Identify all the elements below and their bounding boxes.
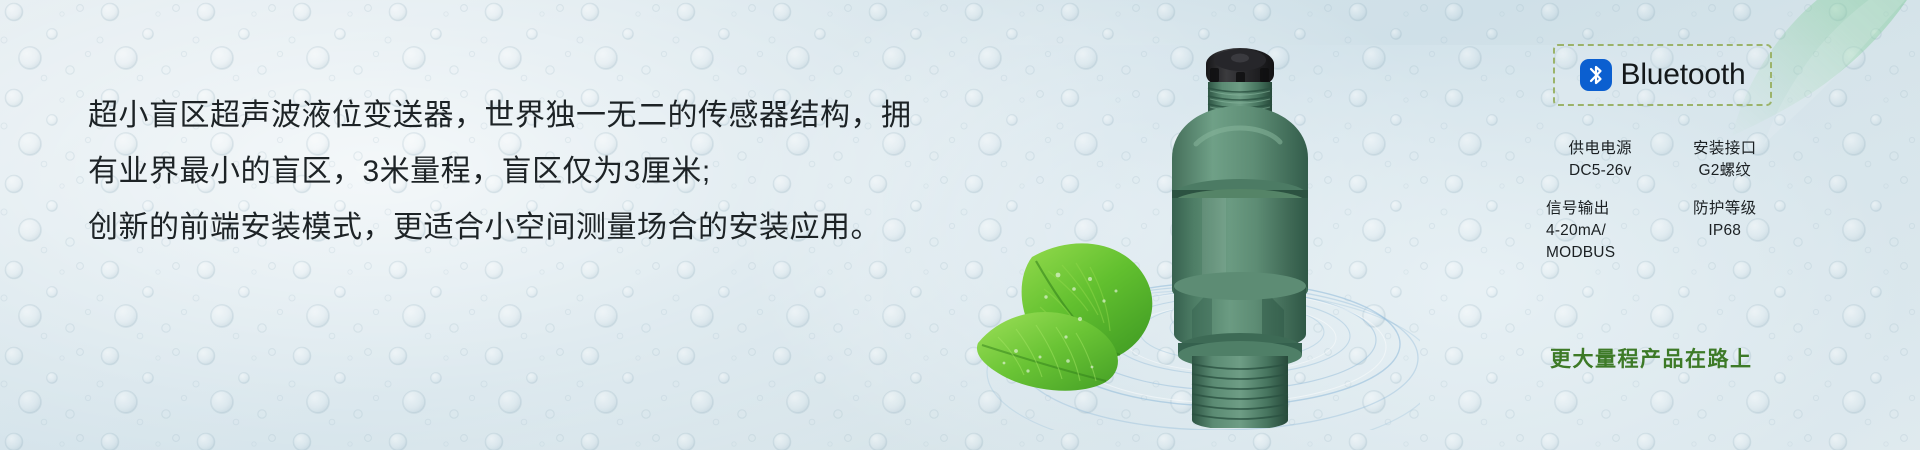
headline-line-1: 超小盲区超声波液位变送器，世界独一无二的传感器结构，拥 bbox=[88, 88, 908, 144]
sensor-flange bbox=[1178, 333, 1302, 369]
sensor-dome bbox=[1172, 106, 1308, 213]
spec-power-value: DC5-26v bbox=[1540, 160, 1661, 182]
bluetooth-badge: Bluetooth bbox=[1553, 44, 1772, 106]
headline-copy: 超小盲区超声波液位变送器，世界独一无二的传感器结构，拥 有业界最小的盲区，3米量… bbox=[88, 88, 908, 256]
tagline: 更大量程产品在路上 bbox=[1550, 343, 1753, 373]
sensor-body bbox=[1172, 198, 1308, 306]
headline-line-3: 创新的前端安装模式，更适合小空间测量场合的安装应用。 bbox=[88, 200, 908, 256]
spec-output: 信号输出 4-20mA/ MODBUS bbox=[1540, 198, 1661, 264]
sensor-upper-thread bbox=[1208, 82, 1272, 133]
ultrasonic-level-transmitter-image bbox=[1150, 38, 1330, 428]
spec-interface-value: G2螺纹 bbox=[1665, 160, 1786, 182]
spec-output-label: 信号输出 bbox=[1546, 198, 1661, 220]
sensor-lower-thread bbox=[1192, 356, 1288, 428]
spec-power: 供电电源 DC5-26v bbox=[1540, 138, 1661, 182]
spec-output-value-1: 4-20mA/ bbox=[1546, 220, 1661, 242]
headline-line-2: 有业界最小的盲区，3米量程，盲区仅为3厘米; bbox=[88, 144, 908, 200]
spec-protection-value: IP68 bbox=[1665, 220, 1786, 242]
sensor-cap bbox=[1206, 48, 1274, 90]
bluetooth-label: Bluetooth bbox=[1621, 58, 1746, 92]
product-banner: 超小盲区超声波液位变送器，世界独一无二的传感器结构，拥 有业界最小的盲区，3米量… bbox=[0, 0, 1920, 450]
sensor-hex-nut bbox=[1174, 272, 1306, 352]
bluetooth-icon bbox=[1580, 59, 1612, 91]
green-leaves-icon bbox=[970, 227, 1200, 392]
water-ripple bbox=[980, 240, 1420, 430]
product-stage bbox=[960, 0, 1430, 450]
sensor-ring bbox=[1172, 189, 1308, 219]
spec-interface: 安装接口 G2螺纹 bbox=[1665, 138, 1786, 182]
spec-protection: 防护等级 IP68 bbox=[1665, 198, 1786, 264]
info-panel: Bluetooth 供电电源 DC5-26v 安装接口 G2螺纹 信号输出 4-… bbox=[1500, 0, 1920, 450]
spec-protection-label: 防护等级 bbox=[1665, 198, 1786, 220]
spec-interface-label: 安装接口 bbox=[1665, 138, 1786, 160]
spec-power-label: 供电电源 bbox=[1540, 138, 1661, 160]
spec-grid: 供电电源 DC5-26v 安装接口 G2螺纹 信号输出 4-20mA/ MODB… bbox=[1540, 138, 1785, 264]
spec-output-value-2: MODBUS bbox=[1546, 242, 1661, 264]
